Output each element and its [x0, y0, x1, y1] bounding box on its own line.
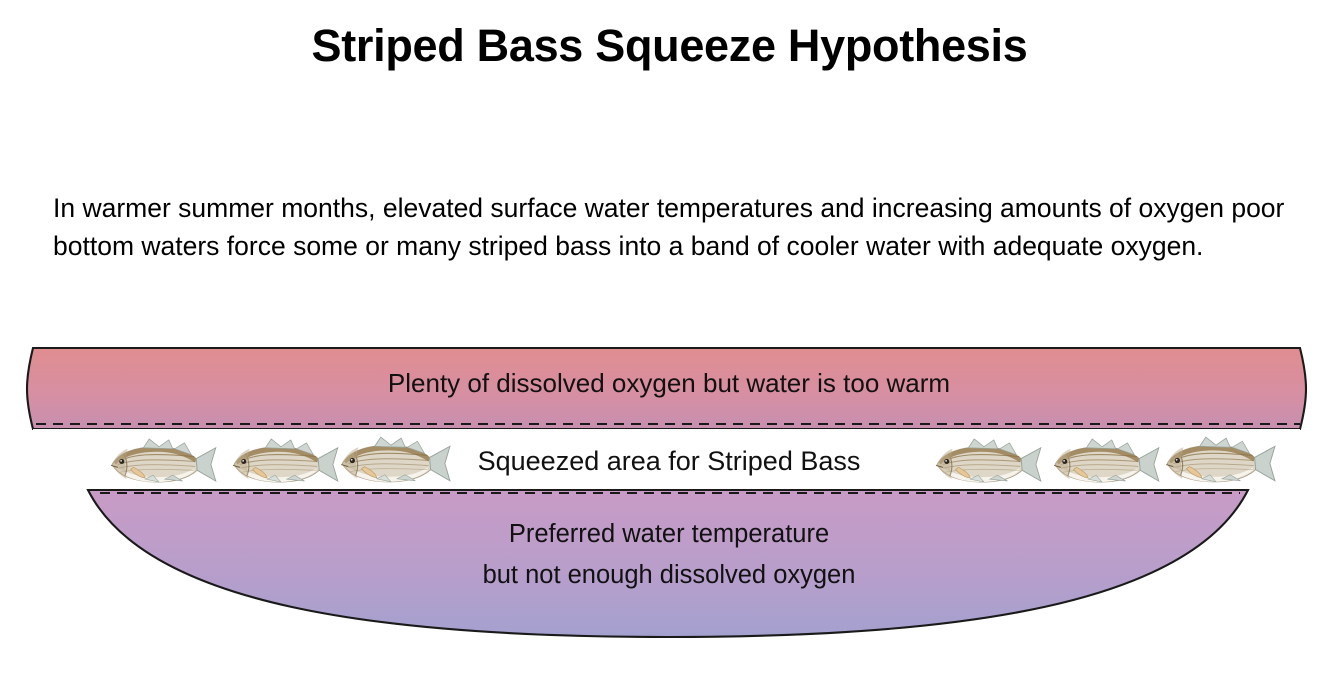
middle-layer-squeezed-band: Squeezed area for Striped Bass: [33, 429, 1300, 490]
bottom-layer-label-line-2: but not enough dissolved oxygen: [483, 561, 856, 589]
top-layer-warm-water: Plenty of dissolved oxygen but water is …: [27, 348, 1306, 429]
top-layer-label: Plenty of dissolved oxygen but water is …: [388, 368, 950, 398]
slide-canvas: Striped Bass Squeeze Hypothesis In warme…: [0, 0, 1339, 692]
bottom-layer-hypoxic-water: Preferred water temperature but not enou…: [88, 490, 1248, 637]
bottom-layer-label-line-1: Preferred water temperature: [509, 520, 829, 548]
page-title: Striped Bass Squeeze Hypothesis: [0, 22, 1339, 71]
striped-bass-squeeze-diagram: Plenty of dissolved oxygen but water is …: [0, 330, 1339, 660]
middle-layer-label: Squeezed area for Striped Bass: [478, 446, 861, 476]
body-paragraph: In warmer summer months, elevated surfac…: [53, 190, 1298, 265]
